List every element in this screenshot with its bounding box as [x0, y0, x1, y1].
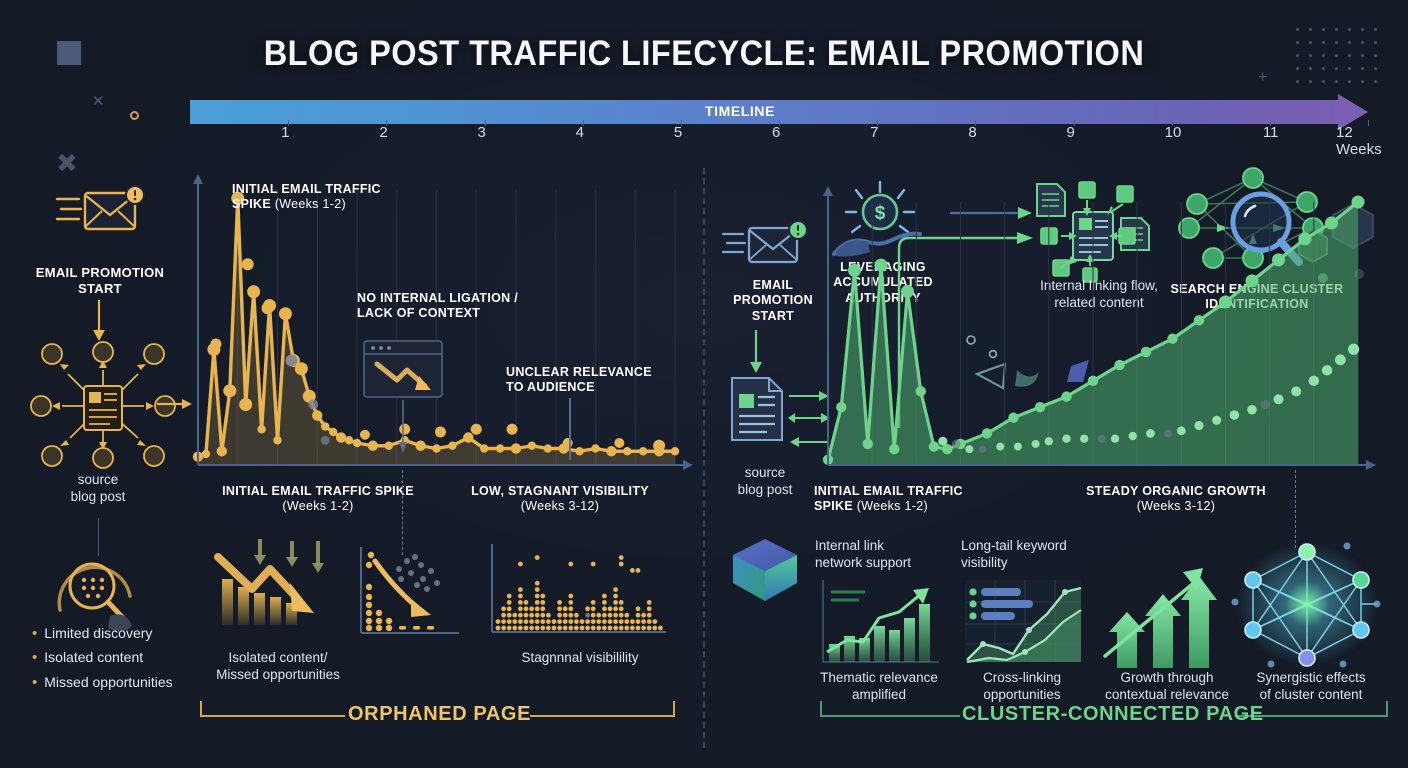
label-cross-linking: Cross-linking opportunities: [947, 670, 1097, 704]
mini-chart-synergistic-network: [1225, 538, 1385, 670]
timeline-tick-label: 4: [576, 124, 584, 141]
timeline-tick-label: 9: [1067, 124, 1075, 141]
phase-label-initial-spike-right: INITIAL EMAIL TRAFFIC SPIKE (Weeks 1-2): [814, 484, 1014, 515]
timeline-tick-label: 1: [281, 124, 289, 141]
source-blog-post-node-diagram: [28, 338, 178, 468]
declining-trend-icon: [212, 535, 340, 639]
timeline-ticks: 123456789101112 Weeks: [190, 124, 1390, 150]
timeline-tick-label: 7: [870, 124, 878, 141]
page-title: BLOG POST TRAFFIC LIFECYCLE: EMAIL PROMO…: [49, 34, 1358, 74]
timeline-tick-label: 5: [674, 124, 682, 141]
list-item: Limited discovery: [32, 622, 232, 646]
orphaned-traffic-chart: [190, 170, 695, 475]
source-blog-post-document-icon: [729, 376, 785, 442]
mini-chart-thematic-relevance: [817, 578, 943, 670]
stagnant-visibility-label: Stagnnnal visibilility: [470, 650, 690, 667]
source-blog-post-label: source blog post: [28, 472, 168, 506]
email-promotion-icon: [55, 185, 149, 243]
annotation-pointer-line-2: [569, 398, 571, 460]
cluster-cube-icon: [729, 535, 801, 603]
chart-title-spike-left: INITIAL EMAIL TRAFFIC SPIKE (Weeks 1-2): [232, 182, 452, 213]
cluster-traffic-chart: [820, 180, 1380, 475]
phase-label-stagnant-left: LOW, STAGNANT VISIBILITY (Weeks 3-12): [440, 484, 680, 515]
annotation-pointer-line: [398, 400, 408, 454]
mini-chart-cross-linking: [961, 578, 1085, 670]
label-synergistic-effects: Synergistic effects of cluster content: [1227, 670, 1395, 704]
timeline-tick-label: 2: [379, 124, 387, 141]
flow-arrow-down-icon-right: [749, 330, 763, 374]
annotation-no-internal-linking: NO INTERNAL LIGATION / LACK OF CONTEXT: [357, 291, 587, 322]
mini-chart-growth-arrows: [1101, 560, 1227, 670]
mini-dot-matrix-chart: [488, 542, 670, 642]
flow-arrow-down-icon: [92, 300, 106, 342]
decor-x-small-icon: ✕: [92, 92, 105, 110]
timeline-tick-label: 6: [772, 124, 780, 141]
source-blog-post-label-right: source blog post: [705, 465, 825, 499]
cluster-connected-page-label: CLUSTER-CONNECTED PAGE: [962, 703, 1238, 726]
phase-divider-right: [1295, 470, 1296, 548]
phase-divider-left: [402, 470, 403, 555]
label-thematic-relevance: Thematic relevance amplified: [799, 670, 959, 704]
timeline-tick-label: 10: [1165, 124, 1182, 141]
mini-scatter-decline-chart: [355, 545, 465, 643]
email-promotion-icon-right: [721, 220, 811, 276]
timeline-tick-label: 3: [478, 124, 486, 141]
timeline-tick-label: 8: [968, 124, 976, 141]
phase-label-steady-growth-right: STEADY ORGANIC GROWTH (Weeks 3-12): [1056, 484, 1296, 515]
label-long-tail-keyword: Long-tail keyword visibility: [961, 538, 1121, 572]
timeline-tick-label: 11: [1263, 124, 1279, 141]
email-promotion-start-label: EMAIL PROMOTION START: [10, 265, 190, 297]
declining-browser-window-icon: [363, 340, 443, 398]
isolated-content-label: Isolated content/ Missed opportunities: [198, 650, 358, 684]
orphaned-page-label: ORPHANED PAGE: [348, 703, 530, 726]
label-growth-contextual: Growth through contextual relevance: [1083, 670, 1251, 704]
timeline-tick-label: 12 Weeks: [1336, 124, 1390, 158]
label-internal-link-network: Internal link network support: [815, 538, 965, 572]
timeline-label: TIMELINE: [190, 103, 1290, 119]
annotation-unclear-relevance: UNCLEAR RELEVANCE TO AUDIENCE: [506, 365, 706, 396]
flow-arrow-right-icon: [157, 398, 193, 410]
decor-circle-icon: [130, 111, 139, 120]
infographic-canvas: ✕ ✖ + BLOG POST TRAFFIC LIFECYCLE: EMAIL…: [0, 0, 1408, 768]
